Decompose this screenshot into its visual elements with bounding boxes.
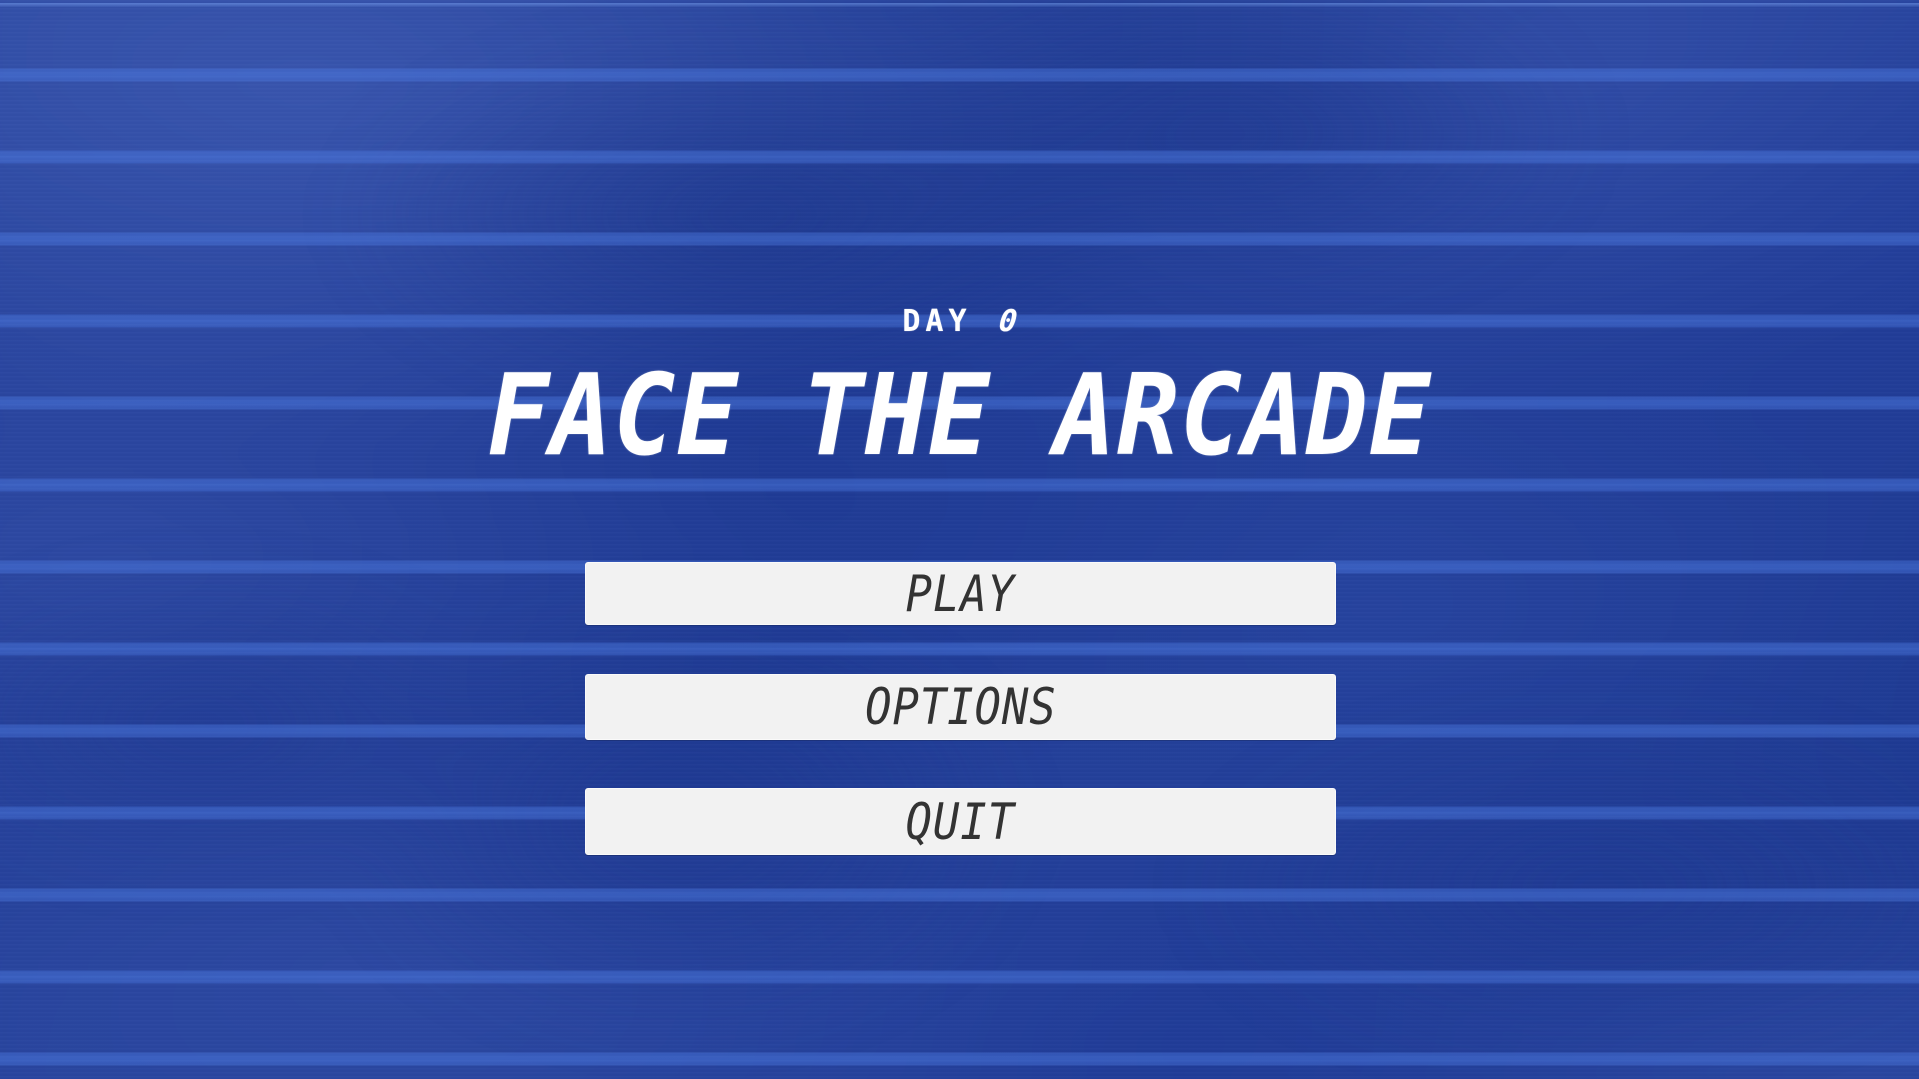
day-counter-number: 0 <box>997 307 1018 337</box>
quit-button-label: QUIT <box>906 797 1015 847</box>
game-screen: DAY 0 FACE THE ARCADE PLAY OPTIONS QUIT <box>0 0 1919 1079</box>
play-button[interactable]: PLAY <box>585 562 1336 625</box>
menu-button-list: PLAY OPTIONS QUIT <box>585 562 1336 855</box>
game-title: FACE THE ARCADE <box>77 360 1842 472</box>
main-menu: DAY 0 FACE THE ARCADE PLAY OPTIONS QUIT <box>0 0 1919 1079</box>
options-button[interactable]: OPTIONS <box>585 674 1336 740</box>
options-button-label: OPTIONS <box>865 682 1057 732</box>
day-counter-word: DAY <box>902 304 971 339</box>
play-button-label: PLAY <box>906 569 1015 619</box>
day-counter: DAY 0 <box>0 307 1919 337</box>
quit-button[interactable]: QUIT <box>585 788 1336 855</box>
